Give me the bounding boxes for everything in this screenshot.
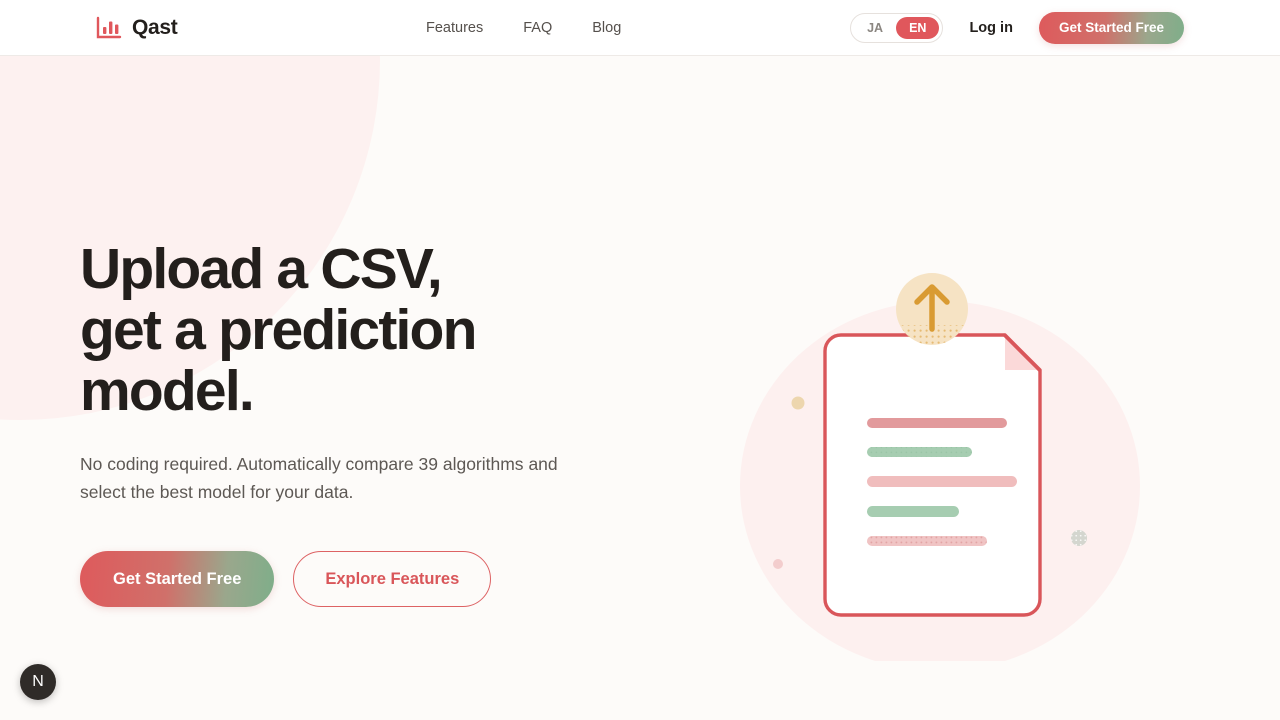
landing-page: Qast Features FAQ Blog JA EN Log in Get …	[0, 0, 1280, 720]
document-line-4	[867, 506, 959, 517]
nav-item-blog[interactable]: Blog	[592, 20, 621, 36]
brand-logo[interactable]: Qast	[96, 16, 178, 40]
hero-explore-features-button[interactable]: Explore Features	[293, 551, 491, 607]
nav-item-features[interactable]: Features	[426, 20, 483, 36]
hero-actions: Get Started Free Explore Features	[80, 551, 700, 607]
hero-headline-line-3: model.	[80, 361, 700, 422]
hero-get-started-button[interactable]: Get Started Free	[80, 551, 274, 607]
hero-section: Upload a CSV, get a prediction model. No…	[0, 56, 1280, 720]
csv-upload-document-illustration	[715, 251, 1165, 661]
header-actions: JA EN Log in Get Started Free	[850, 12, 1184, 44]
header-get-started-button[interactable]: Get Started Free	[1039, 12, 1184, 44]
document-body	[825, 335, 1040, 615]
document-line-1	[867, 418, 1007, 428]
document-line-3	[867, 476, 1017, 487]
nextjs-dev-indicator[interactable]: N	[20, 664, 56, 700]
accent-dot-tan	[792, 397, 805, 410]
language-option-en[interactable]: EN	[896, 17, 939, 39]
hero-headline-line-2: get a prediction	[80, 300, 700, 361]
login-link[interactable]: Log in	[969, 20, 1013, 36]
hero-subheadline-line-1: No coding required. Automatically compar…	[80, 454, 524, 474]
accent-dot-pink	[773, 559, 783, 569]
hero-subheadline: No coding required. Automatically compar…	[80, 450, 600, 506]
hero-headline-line-1: Upload a CSV,	[80, 239, 700, 300]
main-nav: Features FAQ Blog	[426, 20, 621, 36]
bar-chart-icon	[96, 16, 122, 40]
upload-badge	[896, 273, 968, 345]
language-toggle[interactable]: JA EN	[850, 13, 943, 43]
site-header: Qast Features FAQ Blog JA EN Log in Get …	[0, 0, 1280, 56]
hero-copy: Upload a CSV, get a prediction model. No…	[80, 239, 700, 607]
language-option-ja[interactable]: JA	[854, 17, 896, 39]
nav-item-faq[interactable]: FAQ	[523, 20, 552, 36]
brand-name: Qast	[132, 16, 178, 40]
hero-headline: Upload a CSV, get a prediction model.	[80, 239, 700, 422]
